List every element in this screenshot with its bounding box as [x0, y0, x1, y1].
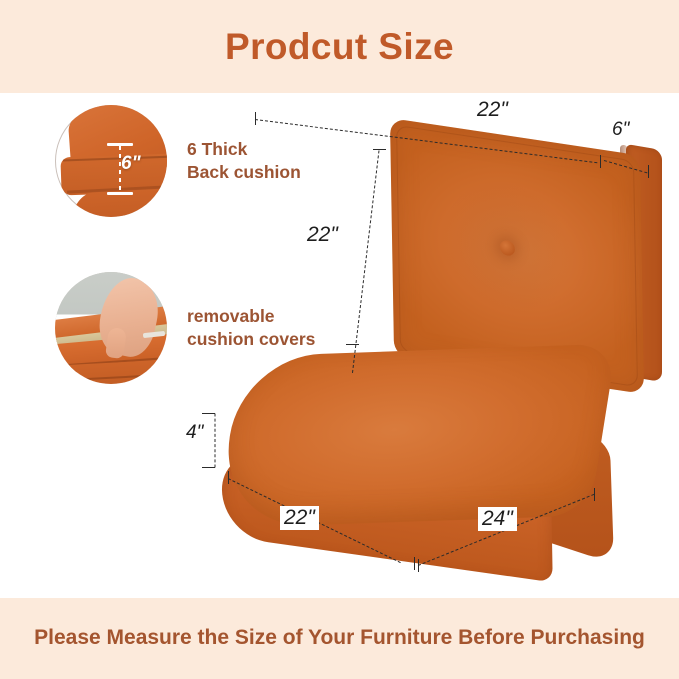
footer-band: Please Measure the Size of Your Furnitur…: [0, 598, 679, 679]
dim-tick-seat-depth-left: [228, 471, 229, 484]
dim-line-back-height: [352, 150, 380, 373]
removable-cover-zipper-photo: [55, 272, 167, 384]
dim-label-back-height: 22": [303, 223, 342, 247]
dim-label-back-thickness: 6": [608, 119, 633, 141]
inline-measure-label: 6": [121, 153, 141, 175]
product-size-infographic: Prodcut Size 6" 6 Thick Back cushion: [0, 0, 679, 679]
dim-tick-seat-thickness-top: [202, 413, 215, 414]
dim-label-seat-thickness: 4": [182, 422, 207, 444]
dim-tick-back-thickness-right: [648, 165, 649, 178]
dim-label-seat-depth: 22": [280, 506, 319, 530]
dim-tick-back-height-bottom: [346, 344, 359, 345]
back-cushion-thickness-photo: 6": [55, 105, 167, 217]
product-illustration: 22" 6" 22" 4" 22" 24": [180, 95, 679, 595]
footer-notice: Please Measure the Size of Your Furnitur…: [8, 624, 671, 652]
dim-tick-back-height-top: [373, 149, 386, 150]
page-title: Prodcut Size: [225, 28, 454, 65]
dim-tick-back-width-left: [255, 112, 256, 125]
dim-label-seat-width: 24": [478, 507, 517, 531]
dim-line-seat-thickness: [215, 414, 216, 468]
dim-tick-seat-depth-right: [414, 557, 415, 570]
header-band: Prodcut Size: [0, 0, 679, 93]
dim-tick-seat-thickness-bottom: [202, 467, 215, 468]
marker-cap-bottom: [107, 192, 133, 195]
dim-tick-seat-width-left: [418, 559, 419, 572]
dim-tick-seat-width-right: [594, 488, 595, 501]
dim-label-back-width: 22": [473, 98, 512, 122]
dim-tick-back-width-right: [600, 155, 601, 168]
